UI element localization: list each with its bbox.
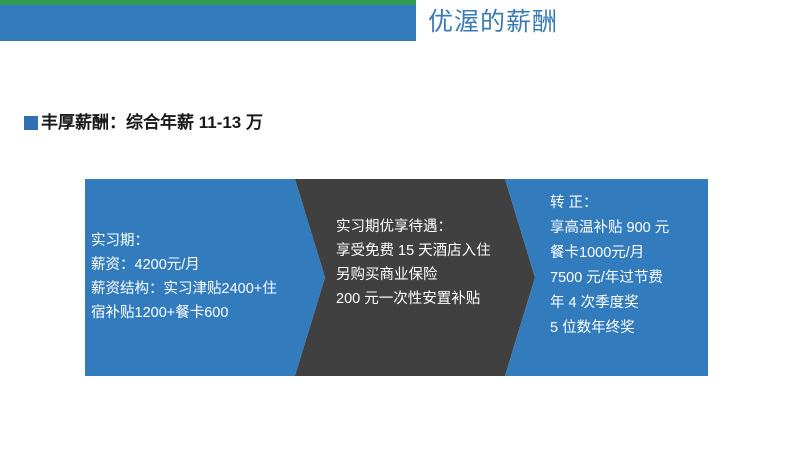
process-stage-3-line: 享高温补贴 900 元: [550, 216, 669, 241]
process-stage-3-line: 转 正：: [550, 191, 669, 216]
page-title: 优渥的薪酬: [428, 7, 558, 37]
square-bullet-icon: [24, 116, 38, 130]
process-chevron-band: 实习期： 薪资：4200元/月 薪资结构：实习津贴2400+住 宿补贴1200+…: [85, 179, 708, 376]
process-stage-1-line: 薪资结构：实习津贴2400+住: [91, 277, 277, 301]
process-stage-2-line: 享受免费 15 天酒店入住: [336, 239, 491, 263]
process-stage-2-line: 实习期优享待遇：: [336, 215, 491, 239]
process-stage-3-line: 餐卡1000元/月: [550, 241, 669, 266]
process-stage-1-line: 薪资：4200元/月: [91, 253, 277, 277]
process-stage-2-text: 实习期优享待遇： 享受免费 15 天酒店入住 另购买商业保险 200 元一次性安…: [336, 215, 491, 311]
process-stage-3-line: 年 4 次季度奖: [550, 291, 669, 316]
bullet-headline: 丰厚薪酬：综合年薪 11-13 万: [24, 113, 263, 133]
process-stage-1-text: 实习期： 薪资：4200元/月 薪资结构：实习津贴2400+住 宿补贴1200+…: [91, 229, 277, 325]
header-band: [0, 0, 416, 41]
bullet-headline-label: 丰厚薪酬：综合年薪 11-13 万: [41, 113, 263, 133]
process-stage-2-line: 200 元一次性安置补贴: [336, 287, 491, 311]
process-stage-3-line: 5 位数年终奖: [550, 316, 669, 341]
process-stage-1-line: 实习期：: [91, 229, 277, 253]
process-stage-3-line: 7500 元/年过节费: [550, 266, 669, 291]
process-stage-internship-salary: 实习期： 薪资：4200元/月 薪资结构：实习津贴2400+住 宿补贴1200+…: [85, 179, 325, 376]
header-bar: [0, 5, 416, 41]
process-stage-internship-benefits: 实习期优享待遇： 享受免费 15 天酒店入住 另购买商业保险 200 元一次性安…: [295, 179, 535, 376]
process-stage-2-line: 另购买商业保险: [336, 263, 491, 287]
process-stage-full-time-benefits: 转 正： 享高温补贴 900 元 餐卡1000元/月 7500 元/年过节费 年…: [505, 179, 708, 376]
process-stage-3-text: 转 正： 享高温补贴 900 元 餐卡1000元/月 7500 元/年过节费 年…: [550, 191, 669, 341]
process-stage-1-line: 宿补贴1200+餐卡600: [91, 301, 277, 325]
